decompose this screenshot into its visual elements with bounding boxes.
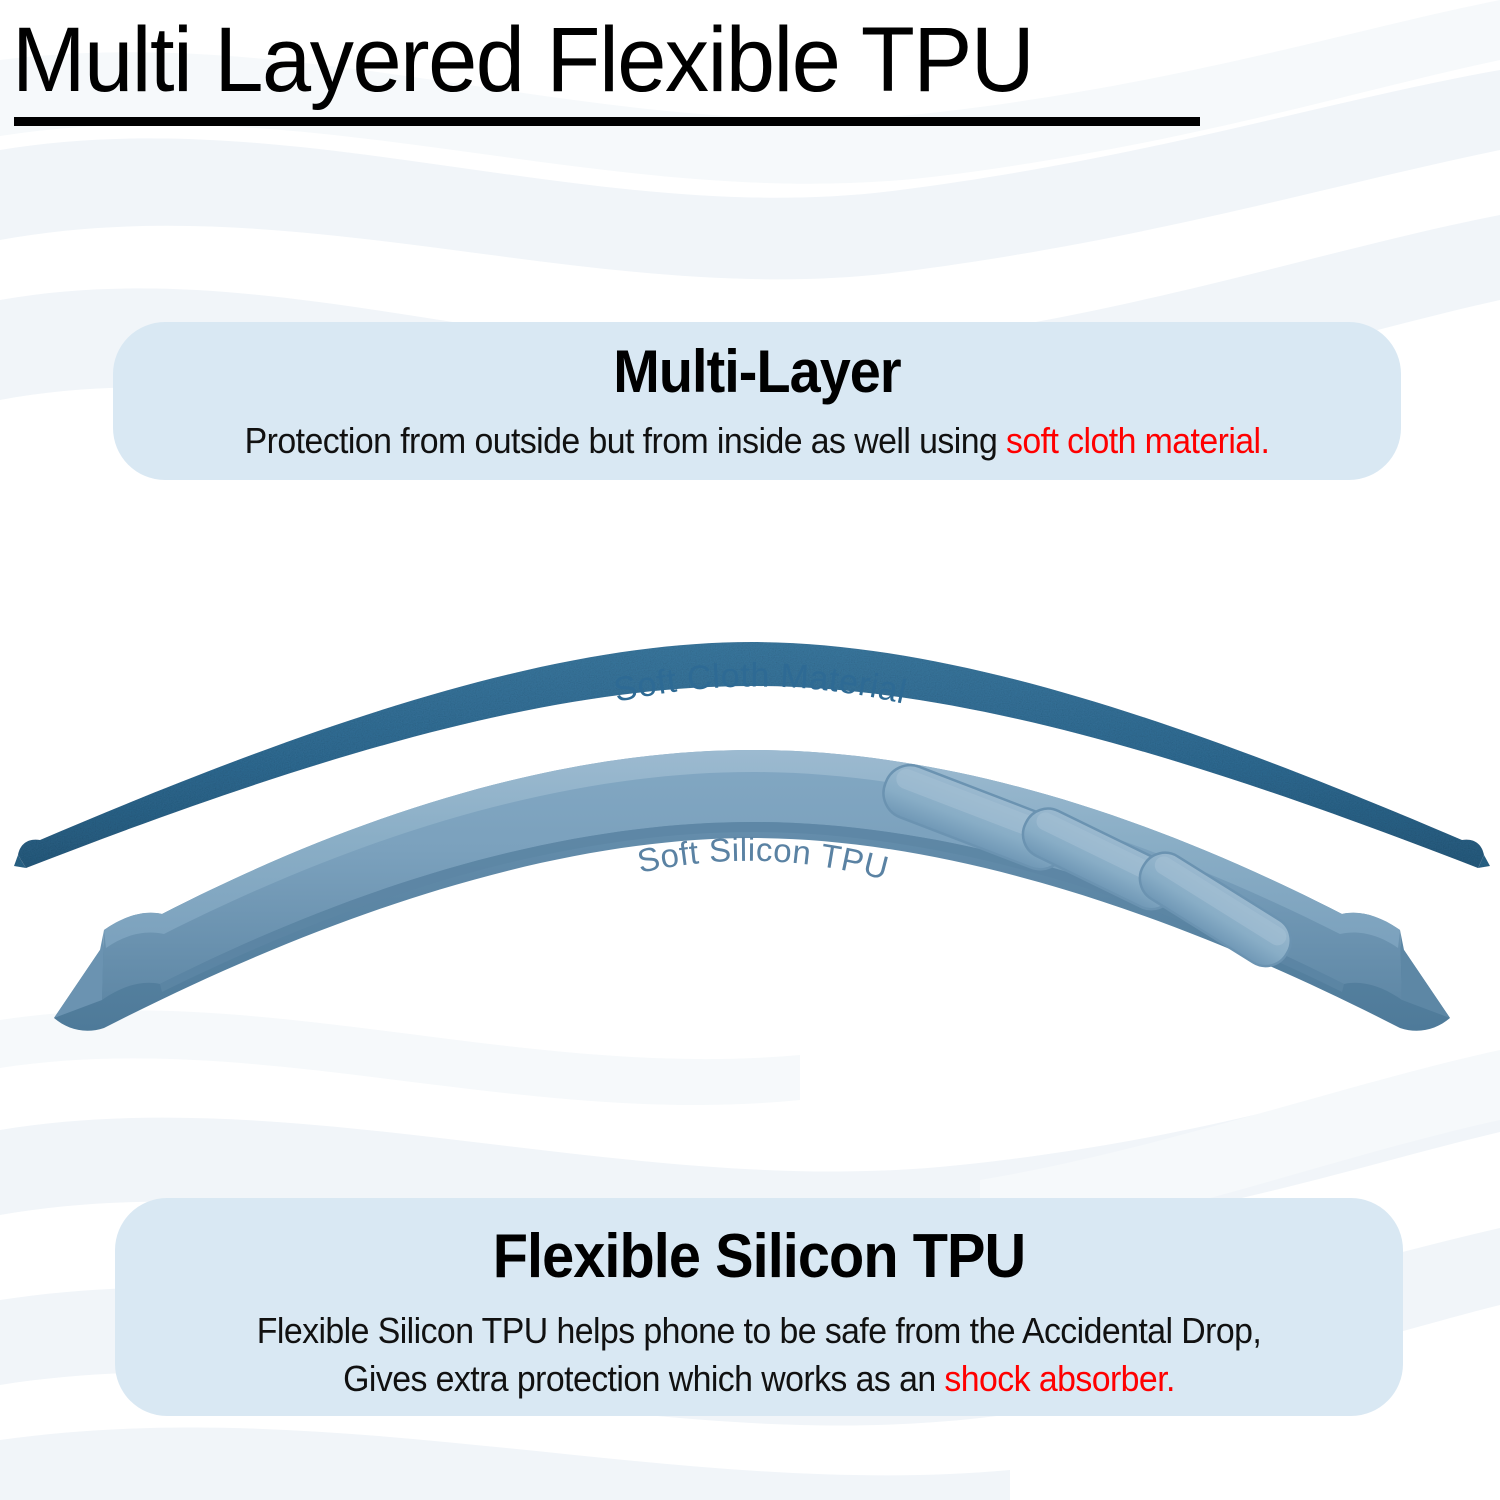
card-top-body: Protection from outside but from inside …: [152, 417, 1363, 465]
info-card-multi-layer: Multi-Layer Protection from outside but …: [113, 322, 1401, 480]
card-bottom-body-line2-plain: Gives extra protection which works as an: [343, 1358, 944, 1399]
card-bottom-body-line2-highlight: shock absorber.: [944, 1358, 1174, 1399]
tpu-layer-group: [54, 750, 1450, 1031]
card-bottom-body-line2: Gives extra protection which works as an…: [154, 1355, 1365, 1403]
card-bottom-heading: Flexible Silicon TPU: [160, 1218, 1358, 1289]
page-title: Multi Layered Flexible TPU: [12, 8, 1202, 112]
card-bottom-body: Flexible Silicon TPU helps phone to be s…: [154, 1307, 1365, 1403]
card-top-heading: Multi-Layer: [158, 340, 1356, 403]
infographic-page: Multi Layered Flexible TPU Multi-Layer P…: [0, 0, 1500, 1500]
card-top-body-highlight: soft cloth material.: [1006, 420, 1269, 461]
card-top-body-plain: Protection from outside but from inside …: [245, 420, 1006, 461]
title-underline-rule: [14, 117, 1200, 126]
card-bottom-body-line1: Flexible Silicon TPU helps phone to be s…: [154, 1307, 1365, 1355]
info-card-flexible-silicon-tpu: Flexible Silicon TPU Flexible Silicon TP…: [115, 1198, 1403, 1416]
product-illustration-phone-case-layers: Soft Cloth Material: [0, 600, 1500, 1070]
